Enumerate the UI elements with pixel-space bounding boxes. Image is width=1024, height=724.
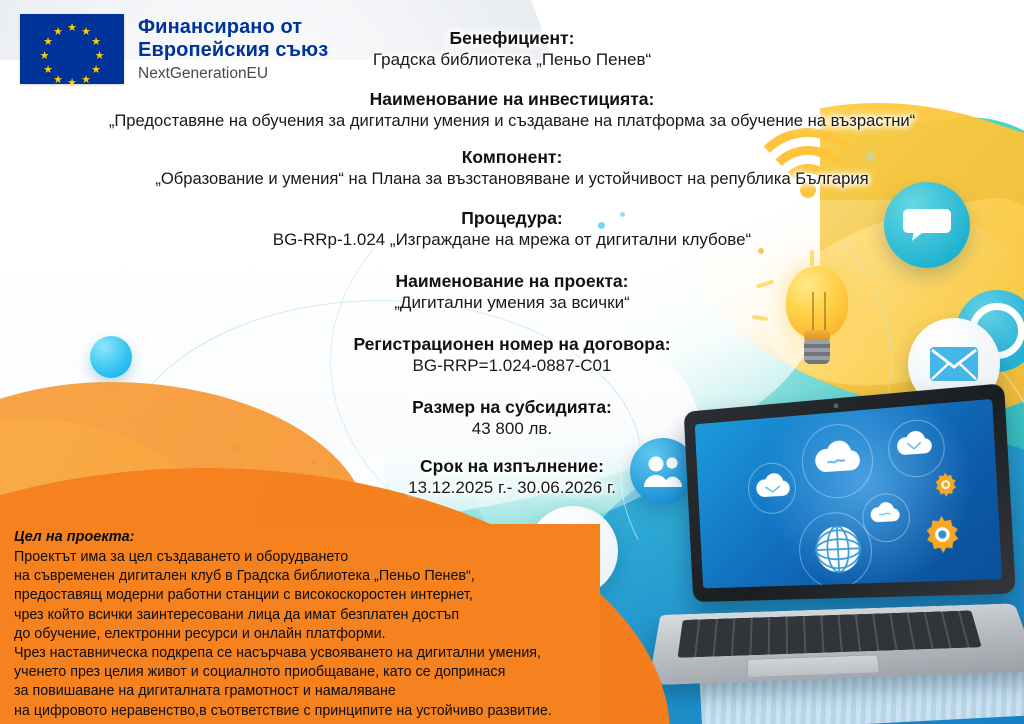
field-procedure: Процедура: BG-RRp-1.024 „Изграждане на м… [0, 207, 1024, 251]
field-value: „Образование и умения“ на Плана за възст… [0, 168, 1024, 190]
field-heading: Срок на изпълнение: [0, 455, 1024, 477]
goal-title: Цел на проекта: [14, 528, 614, 547]
goal-line: Чрез наставническа подкрепа се насърчава… [14, 644, 614, 663]
field-investment-name: Наименование на инвестицията: „Предостав… [0, 88, 1024, 132]
goal-line: за повишаване на дигиталната грамотност … [14, 682, 614, 701]
field-beneficiary: Бенефициент: Градска библиотека „Пеньо П… [0, 27, 1024, 71]
field-value: BG-RRP=1.024-0887-C01 [0, 355, 1024, 377]
field-value: Градска библиотека „Пеньо Пенев“ [0, 49, 1024, 71]
field-heading: Размер на субсидията: [0, 396, 1024, 418]
field-value: 13.12.2025 г.- 30.06.2026 г. [0, 477, 1024, 499]
field-implementation-period: Срок на изпълнение: 13.12.2025 г.- 30.06… [0, 455, 1024, 499]
goal-line: на цифровото неравенство,в съответствие … [14, 702, 614, 721]
field-heading: Бенефициент: [0, 27, 1024, 49]
field-value: „Предоставяне на обучения за дигитални у… [0, 110, 1024, 132]
field-grant-amount: Размер на субсидията: 43 800 лв. [0, 396, 1024, 440]
goal-line: ученето през целия живот и социалното пр… [14, 663, 614, 682]
goal-line: предоставящ модерни работни станции с ви… [14, 586, 614, 605]
field-value: 43 800 лв. [0, 418, 1024, 440]
goal-line: Проектът има за цел създаването и оборуд… [14, 548, 614, 567]
project-goal-block: Цел на проекта: Проектът има за цел създ… [14, 528, 614, 721]
field-heading: Наименование на инвестицията: [0, 88, 1024, 110]
field-value: BG-RRp-1.024 „Изграждане на мрежа от диг… [0, 229, 1024, 251]
goal-line: чрез който всички заинтересовани лица да… [14, 606, 614, 625]
poster-canvas: ★ ★ ★ ★ ★ ★ ★ ★ ★ ★ ★ ★ Финансирано от Е… [0, 0, 1024, 724]
field-contract-number: Регистрационен номер на договора: BG-RRP… [0, 333, 1024, 377]
field-component: Компонент: „Образование и умения“ на Пла… [0, 146, 1024, 190]
field-heading: Наименование на проекта: [0, 270, 1024, 292]
goal-line: на съвременен дигитален клуб в Градска б… [14, 567, 614, 586]
field-heading: Компонент: [0, 146, 1024, 168]
field-heading: Процедура: [0, 207, 1024, 229]
field-value: „Дигитални умения за всички“ [0, 292, 1024, 314]
goal-line: до обучение, електронни ресурси и онлайн… [14, 625, 614, 644]
field-heading: Регистрационен номер на договора: [0, 333, 1024, 355]
field-project-name: Наименование на проекта: „Дигитални умен… [0, 270, 1024, 314]
